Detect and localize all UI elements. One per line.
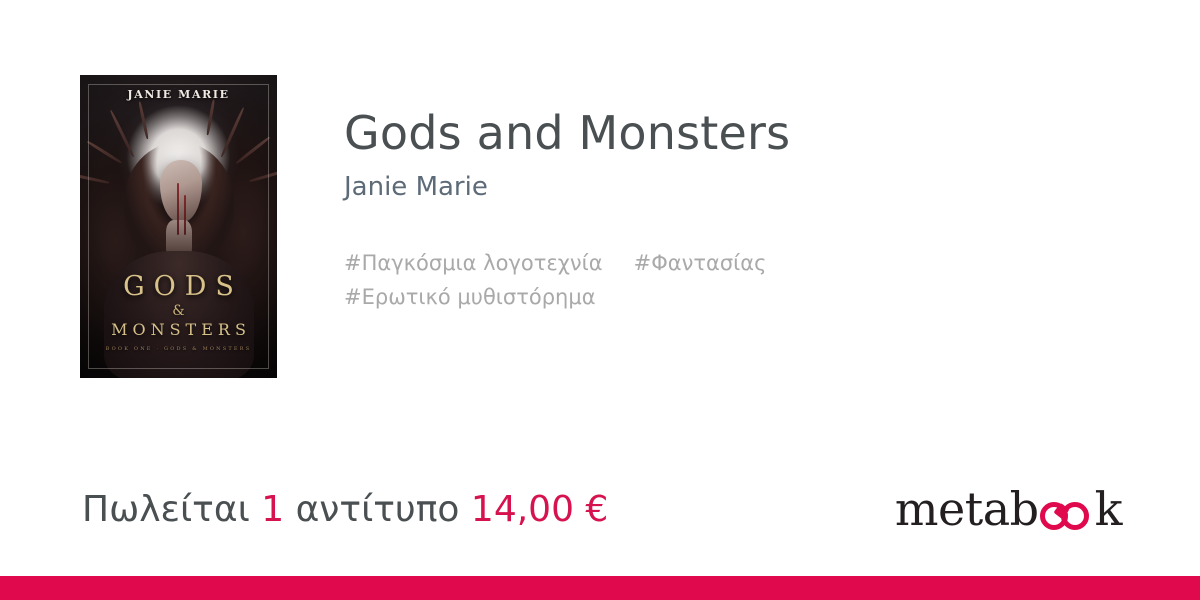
cover-art-antler	[138, 102, 148, 140]
cover-art-antler	[80, 172, 110, 184]
book-info-panel: Gods and Monsters Janie Marie #Παγκόσμια…	[344, 108, 1104, 314]
cover-series-line: BOOK ONE · GODS & MONSTERS	[80, 346, 277, 352]
availability-prefix: Πωλείται	[82, 489, 250, 530]
book-tag[interactable]: #Παγκόσμια λογοτεχνία	[344, 246, 603, 280]
book-tag[interactable]: #Ερωτικό μυθιστόρημα	[344, 280, 596, 314]
logo-ring-right	[1061, 502, 1089, 530]
bottom-accent-bar	[0, 576, 1200, 600]
cover-art-blood-drip	[184, 195, 186, 235]
cover-art-antler	[87, 141, 122, 164]
cover-art-antler	[235, 136, 270, 164]
cover-title-ampersand: &	[80, 303, 277, 319]
availability-quantity: 1	[261, 489, 284, 530]
cover-art-antler	[249, 168, 277, 183]
book-cover-image[interactable]: JANIE MARIE GODS & MONSTERS BOOK ONE · G…	[80, 75, 277, 378]
price-value: 14,00 €	[471, 489, 608, 530]
cover-art-antler	[109, 110, 134, 158]
book-author[interactable]: Janie Marie	[344, 172, 1104, 203]
logo-text-last: k	[1095, 486, 1122, 532]
book-tag-list: #Παγκόσμια λογοτεχνία #Φαντασίας #Ερωτικ…	[344, 246, 864, 314]
logo-text-first: metab	[895, 486, 1039, 532]
cover-title-sub: MONSTERS	[80, 320, 277, 339]
metabook-logo[interactable]: metab k	[895, 486, 1122, 532]
availability-unit: αντίτυπο	[296, 489, 460, 530]
book-tag[interactable]: #Φαντασίας	[634, 246, 767, 280]
cover-art-antler	[220, 107, 245, 158]
cover-author-text: JANIE MARIE	[80, 88, 277, 101]
footer-row: Πωλείται 1 αντίτυπο 14,00 € metab k	[0, 490, 1200, 550]
cover-title-main: GODS	[80, 273, 277, 301]
availability-price-line: Πωλείται 1 αντίτυπο 14,00 €	[82, 490, 608, 530]
cover-title-block: GODS & MONSTERS BOOK ONE · GODS & MONSTE…	[80, 273, 277, 352]
cover-art-antler	[206, 99, 215, 135]
cover-art-face	[160, 160, 202, 222]
cover-art-blood-drip	[177, 183, 179, 235]
book-title: Gods and Monsters	[344, 108, 1104, 160]
logo-rings-icon	[1040, 496, 1094, 530]
